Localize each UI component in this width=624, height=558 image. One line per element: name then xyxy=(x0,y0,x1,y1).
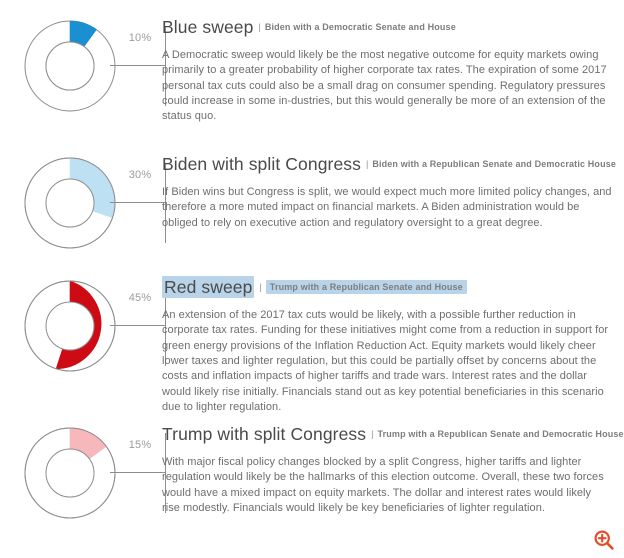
title-separator: | xyxy=(258,22,260,32)
scenario-title: Red sweep xyxy=(162,276,254,298)
leader-line-horizontal xyxy=(110,472,166,473)
scenario-heading: Biden with split Congress|Biden with a R… xyxy=(162,155,612,175)
scenario-text-blue-sweep: Blue sweep|Biden with a Democratic Senat… xyxy=(162,18,612,125)
leader-line-horizontal xyxy=(110,202,166,203)
donut-chart-blue-sweep xyxy=(22,18,118,114)
scenario-heading: Blue sweep|Biden with a Democratic Senat… xyxy=(162,18,612,38)
scenario-subtitle: Biden with a Democratic Senate and House xyxy=(265,22,456,32)
scenario-body: With major fiscal policy changes blocked… xyxy=(162,455,612,517)
scenario-body: An extension of the 2017 tax cuts would … xyxy=(162,308,612,416)
zoom-in-badge[interactable] xyxy=(593,529,615,551)
scenario-text-biden-split-congress: Biden with split Congress|Biden with a R… xyxy=(162,155,612,231)
scenario-text-red-sweep: Red sweep|Trump with a Republican Senate… xyxy=(162,278,612,416)
scenario-subtitle: Trump with a Republican Senate and House xyxy=(266,280,467,294)
percent-label-blue-sweep: 10% xyxy=(118,32,162,44)
scenario-title: Blue sweep xyxy=(162,17,253,37)
title-separator: | xyxy=(366,159,368,169)
scenario-text-trump-split-congress: Trump with split Congress|Trump with a R… xyxy=(162,425,612,516)
election-scenarios-infographic: { "chart_data": { "type": "pie", "title"… xyxy=(0,0,624,558)
probability-chart-trump-split-congress: 15% xyxy=(22,425,144,525)
donut-chart-biden-split-congress xyxy=(22,155,118,251)
zoom-in-icon[interactable] xyxy=(593,529,615,551)
donut-chart-red-sweep xyxy=(22,278,118,374)
scenario-heading: Trump with split Congress|Trump with a R… xyxy=(162,425,612,445)
probability-chart-biden-split-congress: 30% xyxy=(22,155,144,255)
scenario-title: Trump with split Congress xyxy=(162,424,366,444)
scenario-heading: Red sweep|Trump with a Republican Senate… xyxy=(162,278,612,298)
probability-chart-blue-sweep: 10% xyxy=(22,18,144,118)
scenario-title: Biden with split Congress xyxy=(162,154,361,174)
scenario-subtitle: Biden with a Republican Senate and Democ… xyxy=(372,159,616,169)
leader-line-horizontal xyxy=(110,65,166,66)
leader-line-horizontal xyxy=(110,325,166,326)
percent-label-biden-split-congress: 30% xyxy=(118,169,162,181)
donut-chart-trump-split-congress xyxy=(22,425,118,521)
scenario-body: A Democratic sweep would likely be the m… xyxy=(162,48,612,125)
scenario-body: If Biden wins but Congress is split, we … xyxy=(162,185,612,231)
percent-label-red-sweep: 45% xyxy=(118,292,162,304)
percent-label-trump-split-congress: 15% xyxy=(118,439,162,451)
probability-chart-red-sweep: 45% xyxy=(22,278,144,378)
title-separator: | xyxy=(371,429,373,439)
title-separator: | xyxy=(259,282,261,292)
scenario-subtitle: Trump with a Republican Senate and Democ… xyxy=(377,429,623,439)
